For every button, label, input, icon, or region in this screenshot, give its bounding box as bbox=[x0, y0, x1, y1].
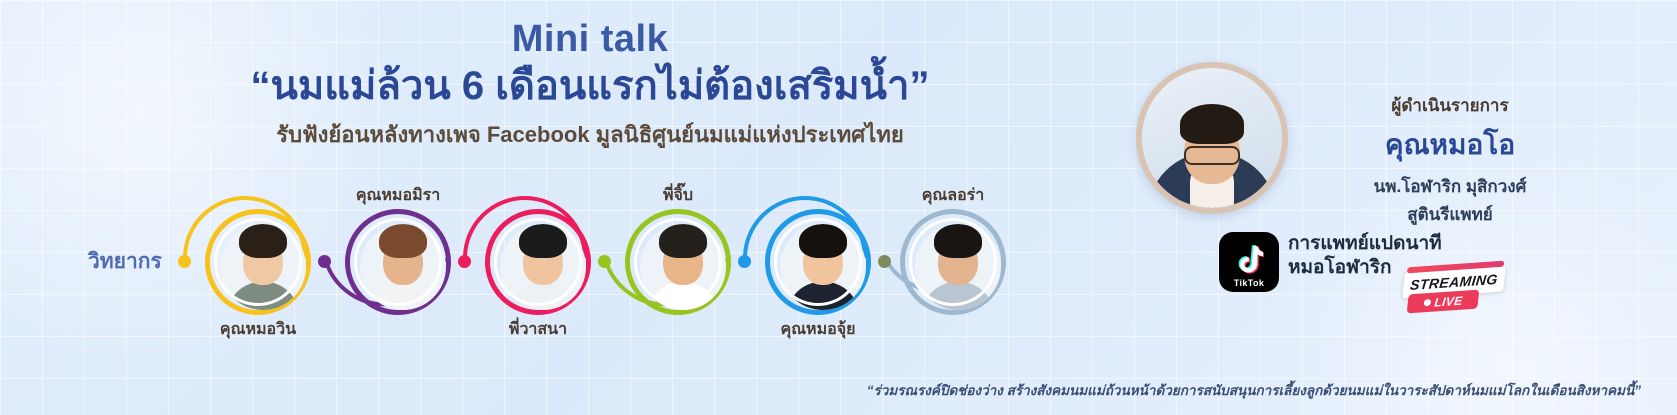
headline-block: Mini talk “นมแม่ล้วน 6 เดือนแรกไม่ต้องเส… bbox=[150, 18, 1030, 148]
speaker-name-2: คุณหมอมิรา bbox=[303, 183, 493, 208]
headline-subtitle: รับฟังย้อนหลังทางเพจ Facebook มูลนิธิศูน… bbox=[150, 122, 1030, 148]
glasses-icon bbox=[1184, 146, 1240, 165]
breastfeeding-mini-talk-banner: Mini talk “นมแม่ล้วน 6 เดือนแรกไม่ต้องเส… bbox=[0, 0, 1677, 415]
host-avatar[interactable] bbox=[1136, 62, 1288, 214]
host-nickname: คุณหมอโอ bbox=[1300, 123, 1600, 167]
speaker-avatar-3[interactable] bbox=[485, 209, 591, 315]
timeline-dot-3 bbox=[458, 255, 471, 268]
host-role-label: ผู้ดำเนินรายการ bbox=[1300, 92, 1600, 119]
avatar bbox=[780, 224, 866, 310]
speaker-avatar-1[interactable] bbox=[205, 209, 311, 315]
speaker-name-3: พี่วาสนา bbox=[443, 317, 633, 342]
campaign-footer-text: “ร่วมรณรงค์ปิดช่องว่าง สร้างสังคมนมแม่ถ้… bbox=[0, 379, 1677, 401]
avatar bbox=[915, 224, 1001, 310]
avatar bbox=[220, 224, 306, 310]
speaker-name-1: คุณหมอวิน bbox=[163, 317, 353, 342]
speaker-avatar-5[interactable] bbox=[765, 209, 871, 315]
timeline-dot-2 bbox=[318, 255, 331, 268]
speaker-timeline: วิทยากร คุณหมอวิน bbox=[0, 185, 1040, 345]
timeline-dot-4 bbox=[598, 255, 611, 268]
avatar bbox=[360, 224, 446, 310]
avatar bbox=[640, 224, 726, 310]
speaker-name-6: คุณลอร่า bbox=[858, 183, 1048, 208]
avatar bbox=[500, 224, 586, 310]
live-badge-label: LIVE bbox=[1434, 293, 1464, 309]
speaker-avatar-2[interactable] bbox=[345, 209, 451, 315]
host-hair-shape bbox=[1180, 104, 1244, 144]
speaker-avatar-4[interactable] bbox=[625, 209, 731, 315]
tiktok-icon[interactable]: TikTok bbox=[1219, 232, 1279, 292]
host-specialty: สูตินรีแพทย์ bbox=[1300, 201, 1600, 228]
speaker-name-4: พี่จิ๊บ bbox=[583, 183, 773, 208]
host-info-block: ผู้ดำเนินรายการ คุณหมอโอ นพ.โอฬาริก มุสิ… bbox=[1300, 92, 1600, 228]
timeline-dot-5 bbox=[738, 255, 751, 268]
headline-quote: “นมแม่ล้วน 6 เดือนแรกไม่ต้องเสริมน้ำ” bbox=[150, 63, 1030, 110]
speaker-name-5: คุณหมอจุ้ย bbox=[723, 317, 913, 342]
live-dot-icon bbox=[1423, 299, 1431, 306]
tiktok-note-glyph bbox=[1234, 244, 1264, 276]
timeline-dot-6 bbox=[878, 255, 891, 268]
speaker-avatar-6[interactable] bbox=[900, 209, 1006, 315]
host-full-name: นพ.โอฬาริก มุสิกวงศ์ bbox=[1300, 173, 1600, 200]
channel-name-line1: การแพทย์แปดนาที bbox=[1288, 232, 1518, 256]
page-title: Mini talk bbox=[150, 18, 1030, 61]
tiktok-wordmark: TikTok bbox=[1219, 278, 1279, 288]
timeline-dot-1 bbox=[178, 255, 191, 268]
